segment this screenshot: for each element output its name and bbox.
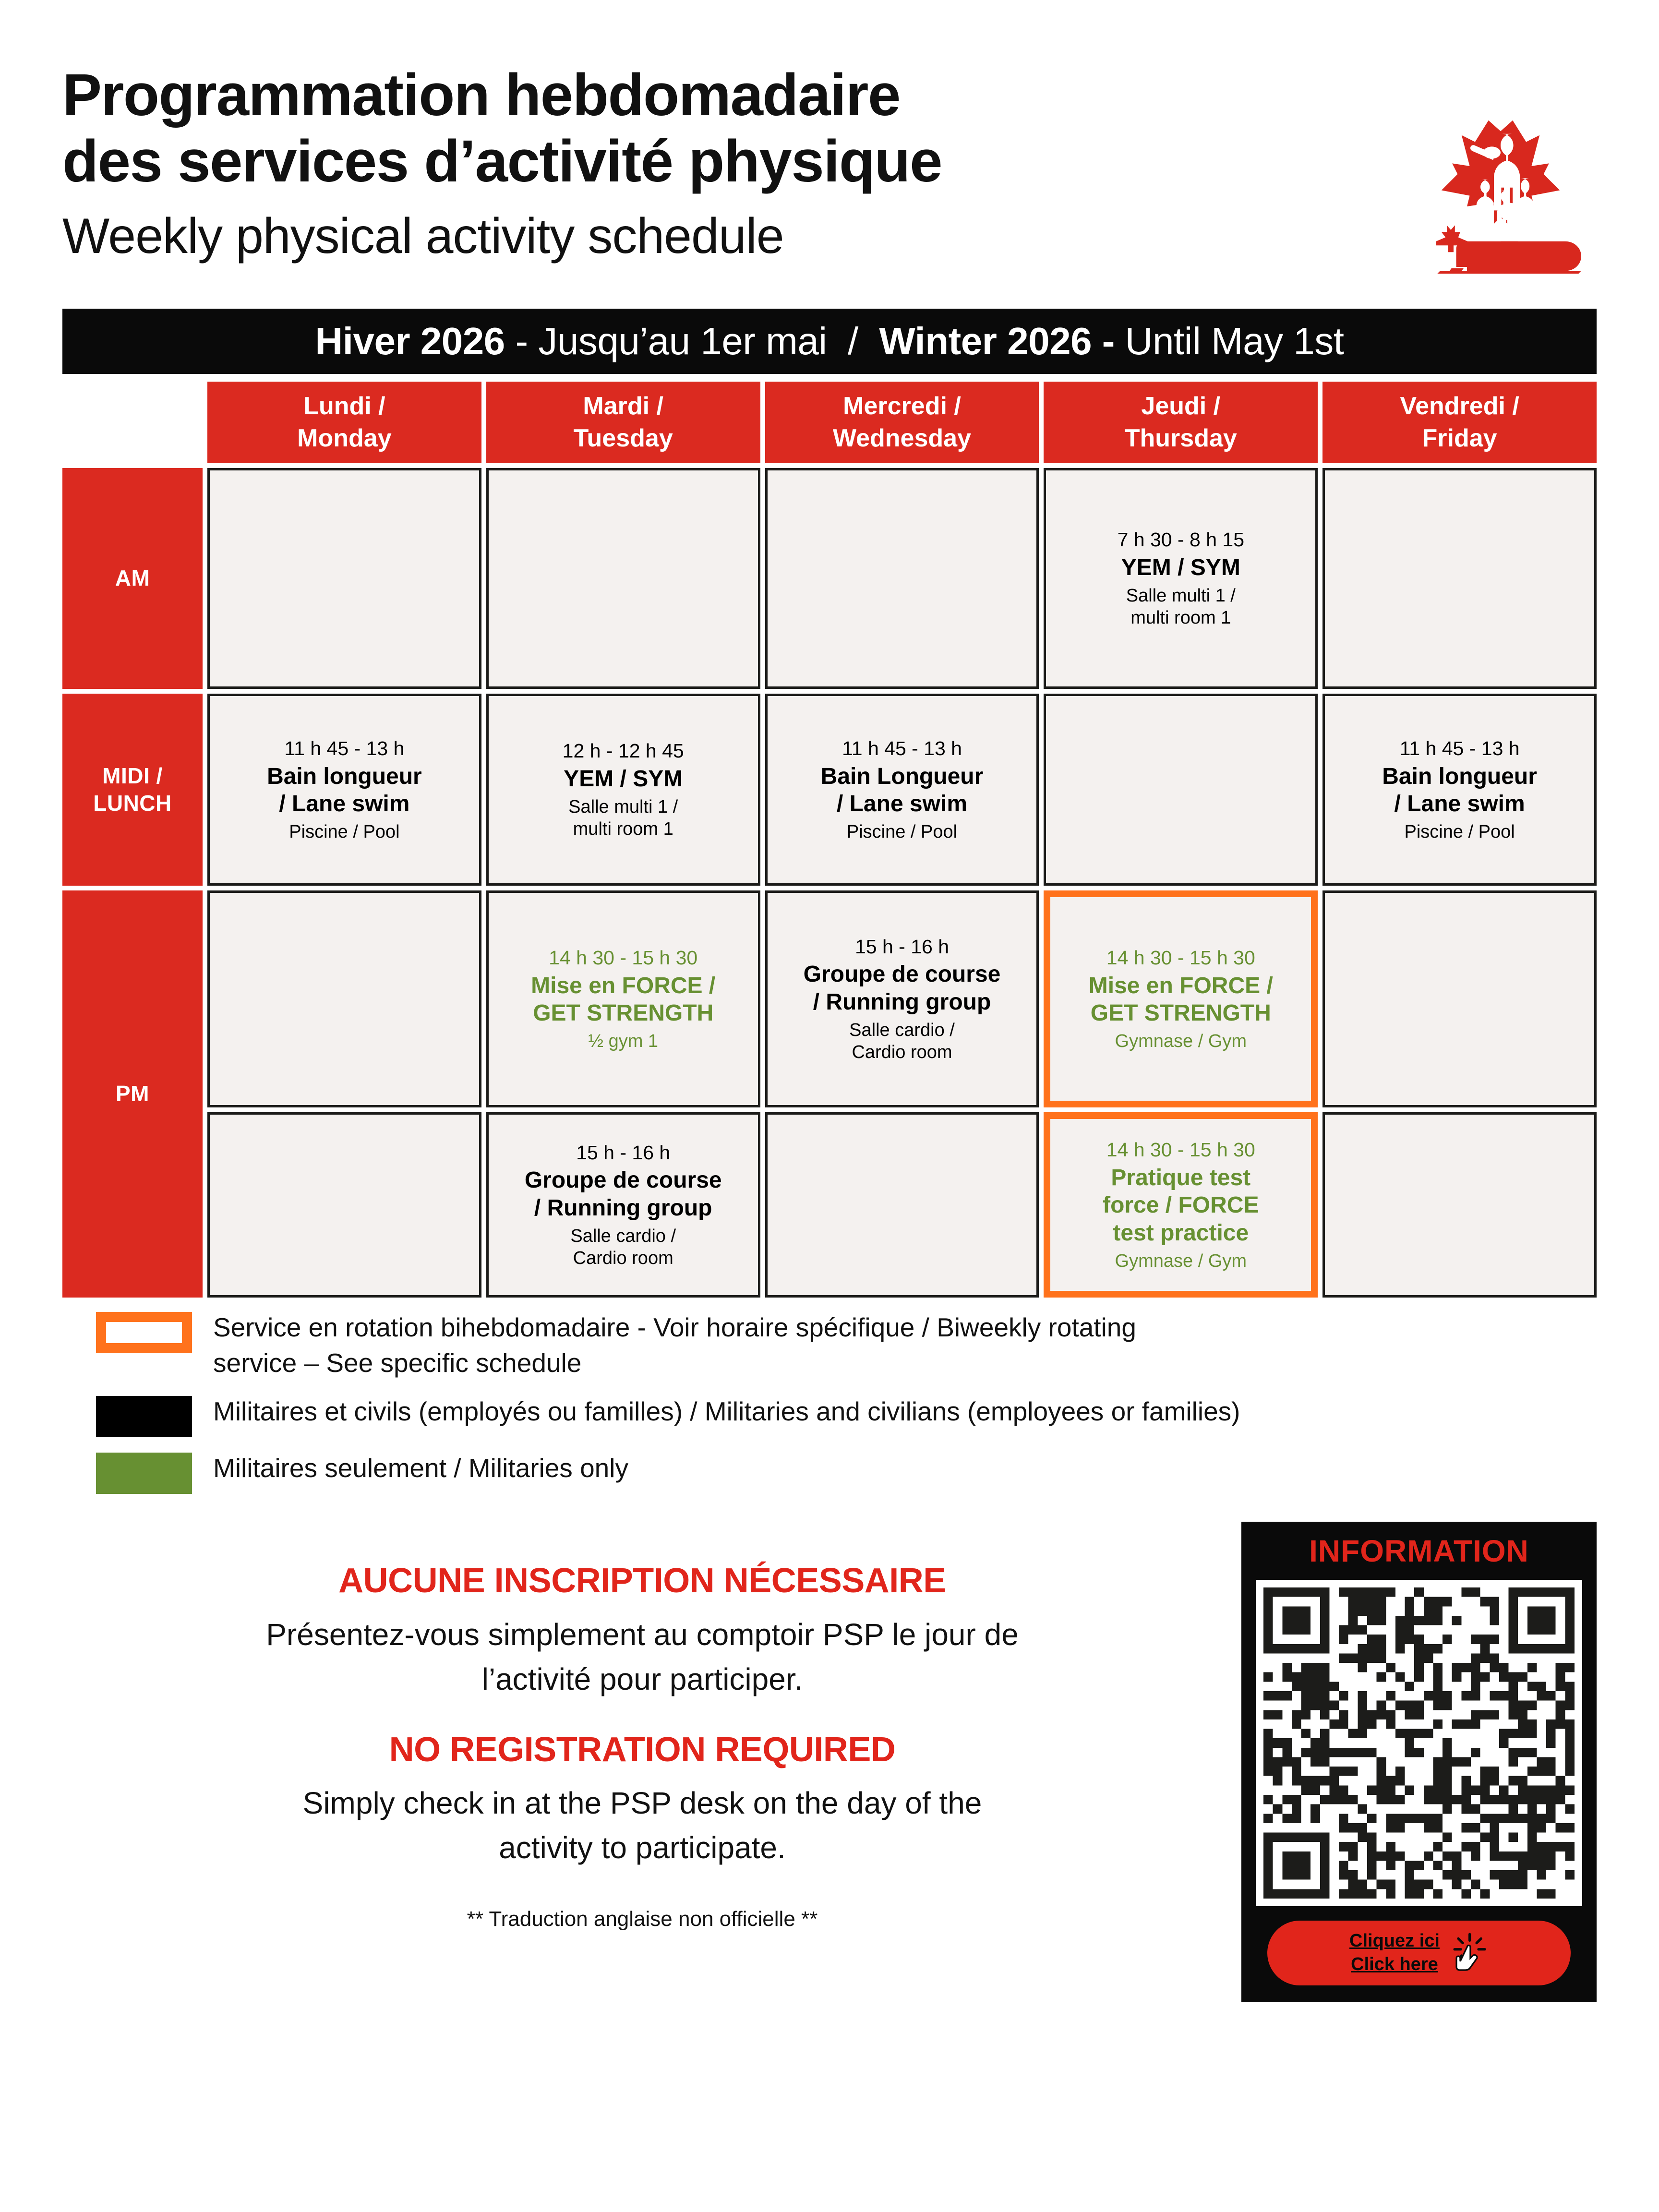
activity-location-line2: Cardio room [573,1247,673,1269]
bottom-section: AUCUNE INSCRIPTION NÉCESSAIRE Présentez-… [62,1522,1597,2001]
information-title: INFORMATION [1256,1534,1582,1568]
cell-am-tuesday [486,468,760,689]
click-here-en: Click here [1349,1953,1440,1976]
cell-pm1-tuesday: 14 h 30 - 15 h 30 Mise en FORCE / GET ST… [486,890,760,1107]
legend-label-military-only: Militaires seulement / Militaries only [213,1450,628,1486]
activity-location-line1: Gymnase / Gym [1115,1250,1247,1272]
day-header-tuesday: Mardi / Tuesday [486,382,760,463]
activity-location-line2: multi room 1 [573,818,673,840]
cell-midi-thursday [1044,694,1318,886]
pm-stack-friday [1322,890,1597,1298]
activity-time: 14 h 30 - 15 h 30 [1106,1138,1255,1162]
psp-maple-leaf-logo [1400,72,1601,276]
cell-am-wednesday [765,468,1039,689]
activity-name-line1: Bain longueur [267,763,422,791]
schedule-table: Lundi / Monday Mardi / Tuesday Mercredi … [62,382,1597,1298]
cell-pm2-wednesday [765,1112,1039,1298]
table-corner-blank [62,382,203,463]
legend-swatch-black [96,1396,192,1437]
click-here-button[interactable]: Cliquez ici Click here [1267,1921,1571,1985]
row-label-midi-fr: MIDI / [93,762,171,790]
activity-name-line3: test practice [1113,1219,1249,1247]
activity-location-line1: Salle cardio / [849,1019,955,1041]
notice-en-body-line1: Simply check in at the PSP desk on the d… [172,1781,1113,1826]
activity-location-line1: Piscine / Pool [1404,821,1515,843]
notice-fr-headline: AUCUNE INSCRIPTION NÉCESSAIRE [62,1560,1222,1601]
page-title-line1: Programmation hebdomadaire [62,62,1395,129]
page-subtitle: Weekly physical activity schedule [62,206,1395,266]
day-header-fr: Jeudi / [1141,390,1220,422]
day-header-thursday: Jeudi / Thursday [1044,382,1318,463]
cell-pm1-friday [1322,890,1597,1107]
activity-time: 11 h 45 - 13 h [284,736,404,761]
activity-name-line2: force / FORCE [1103,1191,1259,1219]
day-header-fr: Mercredi / [843,390,961,422]
season-fr-rest: - Jusqu’au 1er mai [505,320,827,362]
cell-am-monday [207,468,481,689]
activity-location-line1: Salle cardio / [570,1225,676,1247]
cell-pm2-tuesday: 15 h - 16 h Groupe de course / Running g… [486,1112,760,1298]
activity-time: 14 h 30 - 15 h 30 [549,946,697,970]
activity-location-line2: multi room 1 [1130,607,1231,629]
notice-fr-body-line1: Présentez-vous simplement au comptoir PS… [172,1612,1113,1657]
cell-midi-wednesday: 11 h 45 - 13 h Bain Longueur / Lane swim… [765,694,1039,886]
pm-stack-thursday: 14 h 30 - 15 h 30 Mise en FORCE / GET ST… [1044,890,1318,1298]
activity-time: 11 h 45 - 13 h [842,736,962,761]
day-header-fr: Lundi / [303,390,385,422]
legend-swatch-green [96,1453,192,1494]
activity-name-line1: Bain longueur [1382,763,1537,791]
season-en-rest: Until May 1st [1115,320,1344,362]
page-title-line2: des services d’activité physique [62,129,1395,195]
notice-fr-body-line2: l’activité pour participer. [172,1657,1113,1702]
row-label-pm: PM [62,890,203,1298]
season-bar: Hiver 2026 - Jusqu’au 1er mai / Winter 2… [62,309,1597,374]
day-header-en: Thursday [1125,422,1237,455]
activity-name: YEM / SYM [1121,554,1240,582]
activity-name-line1: Mise en FORCE / [531,972,715,1000]
activity-location-line1: Salle multi 1 / [568,796,678,818]
activity-name-line1: YEM / SYM [564,765,683,793]
activity-name-line1: Pratique test [1111,1164,1250,1192]
qr-code[interactable] [1256,1580,1582,1906]
legend-label-rotating: Service en rotation bihebdomadaire - Voi… [213,1309,1136,1381]
cell-am-thursday: 7 h 30 - 8 h 15 YEM / SYM Salle multi 1 … [1044,468,1318,689]
notice-block: AUCUNE INSCRIPTION NÉCESSAIRE Présentez-… [62,1522,1222,1931]
pm-stack-monday [207,890,481,1298]
table-row-midi: MIDI / LUNCH 11 h 45 - 13 h Bain longueu… [62,694,1597,886]
cell-midi-tuesday: 12 h - 12 h 45 YEM / SYM Salle multi 1 /… [486,694,760,886]
activity-location-line2: Cardio room [852,1041,952,1063]
cell-midi-monday: 11 h 45 - 13 h Bain longueur / Lane swim… [207,694,481,886]
notice-en-headline: NO REGISTRATION REQUIRED [62,1729,1222,1770]
activity-location-line1: Salle multi 1 / [1126,585,1236,607]
cell-pm1-wednesday: 15 h - 16 h Groupe de course / Running g… [765,890,1039,1107]
day-header-en: Wednesday [833,422,971,455]
activity-time: 12 h - 12 h 45 [563,739,684,763]
legend-swatch-orange-outline [96,1312,192,1353]
legend: Service en rotation bihebdomadaire - Voi… [96,1309,1597,1494]
activity-name-line1: Groupe de course [525,1166,722,1194]
translation-footnote: ** Traduction anglaise non officielle ** [62,1907,1222,1931]
activity-location-line1: ½ gym 1 [588,1030,658,1052]
legend-line2: service – See specific schedule [213,1346,1136,1381]
row-label-midi-en: LUNCH [93,790,171,817]
activity-name-line2: / Running group [813,988,991,1016]
click-here-label: Cliquez ici Click here [1349,1929,1440,1977]
day-header-fr: Mardi / [583,390,663,422]
day-header-en: Friday [1422,422,1497,455]
activity-location-line1: Gymnase / Gym [1115,1030,1247,1052]
activity-location-line1: Piscine / Pool [289,821,399,843]
table-row-am: AM 7 h 30 - 8 h 15 YEM / SYM Salle multi… [62,468,1597,689]
notice-en-body: Simply check in at the PSP desk on the d… [172,1781,1113,1871]
notice-en-body-line2: activity to participate. [172,1826,1113,1870]
activity-location-line1: Piscine / Pool [847,821,957,843]
information-qr-box[interactable]: INFORMATION Cliquez ici Click here [1241,1522,1597,2001]
activity-time: 11 h 45 - 13 h [1400,736,1520,761]
cell-pm1-monday [207,890,481,1107]
legend-label-military-civilian: Militaires et civils (employés ou famill… [213,1393,1240,1430]
activity-time: 7 h 30 - 8 h 15 [1118,528,1244,552]
activity-name-line2: / Lane swim [837,790,967,818]
season-bar-text: Hiver 2026 - Jusqu’au 1er mai / Winter 2… [315,322,1344,361]
activity-name-line1: Groupe de course [804,961,1001,988]
click-hand-icon [1448,1932,1489,1974]
activity-name-line2: / Lane swim [1395,790,1525,818]
activity-time: 15 h - 16 h [855,935,949,959]
legend-item-rotating: Service en rotation bihebdomadaire - Voi… [96,1309,1597,1381]
activity-time: 14 h 30 - 15 h 30 [1106,946,1255,970]
day-header-fr: Vendredi / [1400,390,1519,422]
legend-item-military-only: Militaires seulement / Militaries only [96,1450,1597,1494]
activity-time: 15 h - 16 h [576,1141,670,1165]
row-label-midi: MIDI / LUNCH [62,694,203,886]
cell-midi-friday: 11 h 45 - 13 h Bain longueur / Lane swim… [1322,694,1597,886]
season-en-bold: Winter 2026 - [879,320,1115,362]
row-label-am: AM [62,468,203,689]
table-header-row: Lundi / Monday Mardi / Tuesday Mercredi … [62,382,1597,463]
activity-name-line2: / Lane swim [279,790,409,818]
cell-pm2-thursday: 14 h 30 - 15 h 30 Pratique test force / … [1044,1112,1318,1298]
activity-name-line2: GET STRENGTH [533,999,713,1027]
legend-line1: Service en rotation bihebdomadaire - Voi… [213,1310,1136,1346]
legend-item-military-civilian: Militaires et civils (employés ou famill… [96,1393,1597,1437]
day-header-en: Tuesday [574,422,673,455]
cell-pm2-monday [207,1112,481,1298]
day-header-friday: Vendredi / Friday [1322,382,1597,463]
season-separator: / [827,320,879,362]
day-header-monday: Lundi / Monday [207,382,481,463]
cell-pm1-thursday: 14 h 30 - 15 h 30 Mise en FORCE / GET ST… [1044,890,1318,1107]
day-header-en: Monday [297,422,391,455]
header-text-block: Programmation hebdomadaire des services … [62,62,1395,266]
poster-header: Programmation hebdomadaire des services … [0,0,1659,276]
cell-pm2-friday [1322,1112,1597,1298]
season-fr-bold: Hiver 2026 [315,320,505,362]
pm-stack-wednesday: 15 h - 16 h Groupe de course / Running g… [765,890,1039,1298]
notice-fr-body: Présentez-vous simplement au comptoir PS… [172,1612,1113,1702]
table-row-pm: PM 14 h 30 - 15 h 30 Mise en FORCE / GET… [62,890,1597,1298]
pm-stack-tuesday: 14 h 30 - 15 h 30 Mise en FORCE / GET ST… [486,890,760,1298]
activity-name-line2: GET STRENGTH [1091,999,1271,1027]
activity-name-line1: Mise en FORCE / [1089,972,1273,1000]
day-header-wednesday: Mercredi / Wednesday [765,382,1039,463]
activity-name-line2: / Running group [534,1194,712,1222]
activity-name-line1: Bain Longueur [821,763,984,791]
click-here-fr: Cliquez ici [1349,1929,1440,1953]
cell-am-friday [1322,468,1597,689]
